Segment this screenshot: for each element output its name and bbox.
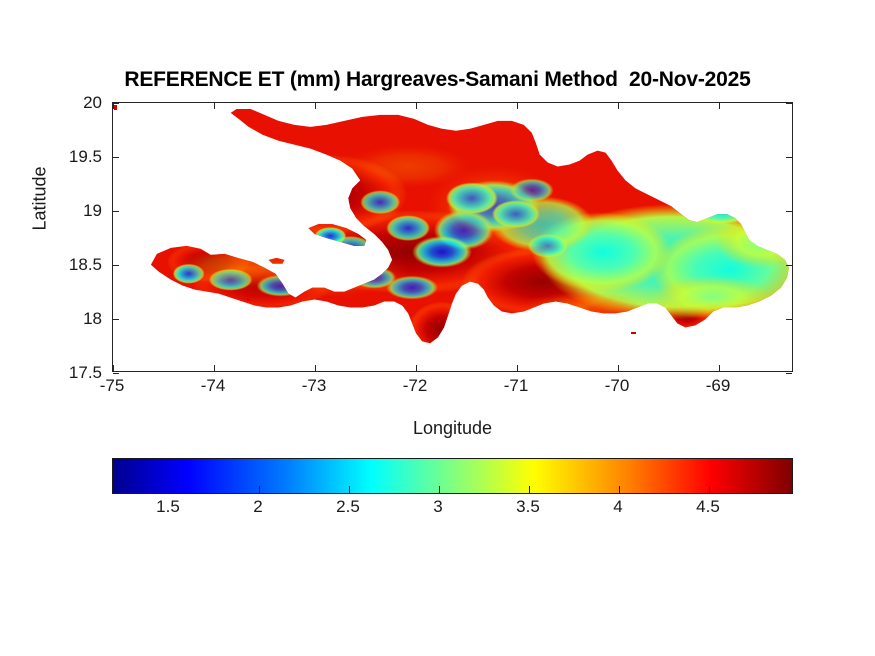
ytick-left-5 — [113, 103, 119, 104]
colorbar-tick-6 — [709, 486, 710, 493]
ytick-right-5 — [786, 103, 792, 104]
colorbar-label-0: 1.5 — [138, 497, 198, 517]
ytick-right-1 — [786, 319, 792, 320]
page-title: REFERENCE ET (mm) Hargreaves-Samani Meth… — [0, 68, 875, 92]
raster-speck — [247, 299, 250, 301]
xtick-label-1: -74 — [178, 376, 248, 396]
ytick-right-2 — [786, 265, 792, 266]
hispaniola-et-raster — [113, 103, 792, 371]
colorbar-tick-4 — [529, 486, 530, 493]
xtick-bottom-2 — [315, 365, 316, 371]
ytick-right-3 — [786, 211, 792, 212]
colorbar-tick-1 — [259, 486, 260, 493]
xtick-bottom-4 — [517, 365, 518, 371]
xtick-top-6 — [719, 103, 720, 109]
colorbar-tick-2 — [349, 486, 350, 493]
et-field — [113, 103, 792, 371]
xtick-bottom-0 — [113, 365, 114, 371]
xtick-bottom-3 — [416, 365, 417, 371]
colorbar-label-3: 3 — [408, 497, 468, 517]
ytick-right-4 — [786, 157, 792, 158]
x-axis-title: Longitude — [112, 418, 793, 439]
ytick-right-0 — [786, 373, 792, 374]
ytick-label-2: 18.5 — [42, 255, 102, 275]
colorbar-tick-3 — [439, 486, 440, 493]
xtick-top-4 — [517, 103, 518, 109]
colorbar-tick-0 — [169, 486, 170, 493]
colorbar-label-4: 3.5 — [498, 497, 558, 517]
colorbar[interactable] — [112, 458, 793, 494]
colorbar-label-6: 4.5 — [678, 497, 738, 517]
ytick-label-0: 17.5 — [42, 363, 102, 383]
raster-speck — [114, 105, 117, 110]
raster-speck — [631, 332, 636, 334]
xtick-label-6: -69 — [683, 376, 753, 396]
ytick-left-1 — [113, 319, 119, 320]
xtick-label-4: -71 — [481, 376, 551, 396]
xtick-top-5 — [618, 103, 619, 109]
ytick-label-5: 20 — [42, 93, 102, 113]
map-raster-clip — [113, 103, 792, 371]
matlab-figure: REFERENCE ET (mm) Hargreaves-Samani Meth… — [0, 0, 875, 656]
xtick-top-1 — [214, 103, 215, 109]
colorbar-tick-5 — [619, 486, 620, 493]
ytick-left-3 — [113, 211, 119, 212]
xtick-top-2 — [315, 103, 316, 109]
xtick-label-2: -73 — [279, 376, 349, 396]
ytick-left-2 — [113, 265, 119, 266]
colorbar-label-5: 4 — [588, 497, 648, 517]
ytick-label-1: 18 — [42, 309, 102, 329]
colorbar-label-1: 2 — [228, 497, 288, 517]
ytick-label-4: 19.5 — [42, 147, 102, 167]
ytick-left-0 — [113, 373, 119, 374]
ytick-label-3: 19 — [42, 201, 102, 221]
xtick-label-3: -72 — [380, 376, 450, 396]
colorbar-gradient[interactable] — [112, 458, 793, 494]
xtick-label-5: -70 — [582, 376, 652, 396]
ytick-left-4 — [113, 157, 119, 158]
xtick-bottom-1 — [214, 365, 215, 371]
xtick-bottom-5 — [618, 365, 619, 371]
map-axes — [112, 102, 793, 372]
xtick-top-3 — [416, 103, 417, 109]
y-axis-title: Latitude — [30, 99, 51, 299]
colorbar-label-2: 2.5 — [318, 497, 378, 517]
xtick-bottom-6 — [719, 365, 720, 371]
